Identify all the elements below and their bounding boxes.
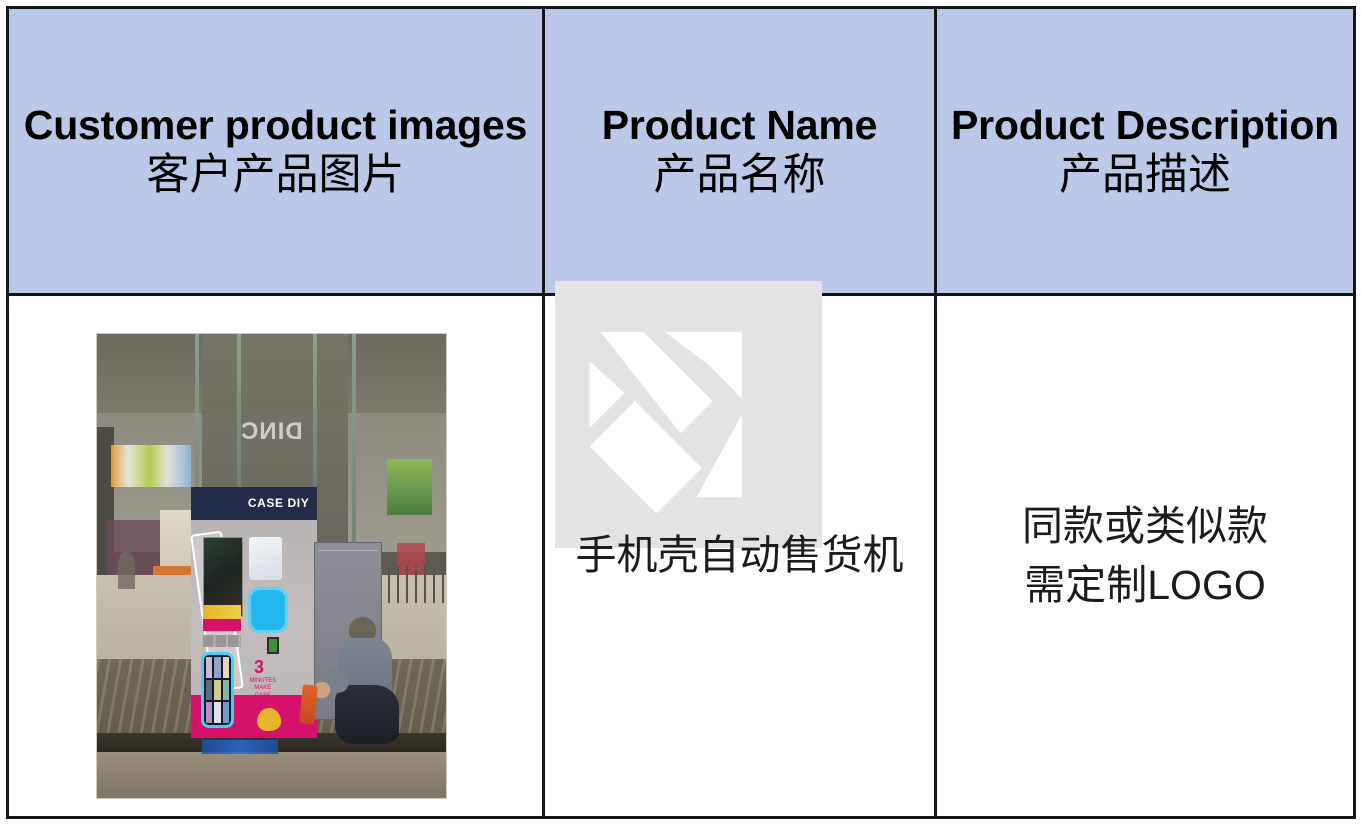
machine-screen-banner-yellow xyxy=(203,605,242,620)
photo-storefront-sign: DINC xyxy=(240,418,303,446)
machine-button-row xyxy=(203,635,242,648)
product-spec-table: Customer product images 客户产品图片 Product N… xyxy=(6,6,1356,819)
product-description-line-1: 同款或类似款 xyxy=(1022,497,1268,556)
handshake-watermark-icon xyxy=(545,281,832,548)
page-root: Customer product images 客户产品图片 Product N… xyxy=(0,0,1361,825)
column-header-cn-label: 客户产品图片 xyxy=(9,150,542,201)
machine-screen-banner-magenta xyxy=(203,619,242,632)
person-legs xyxy=(335,685,399,745)
photo-shop-sign xyxy=(111,445,191,487)
column-header-product-description: Product Description 产品描述 xyxy=(936,8,1355,295)
product-description-text: 同款或类似款 需定制LOGO xyxy=(1008,497,1282,616)
column-header-cn-label: 产品名称 xyxy=(545,150,934,201)
photo-pedestrian xyxy=(118,552,135,589)
case-thumb xyxy=(214,680,220,700)
photo-glass-mullion xyxy=(352,334,356,575)
column-header-en-label: Customer product images xyxy=(9,101,542,149)
cell-product-description: 同款或类似款 需定制LOGO xyxy=(936,295,1355,818)
column-header-customer-product-images: Customer product images 客户产品图片 xyxy=(8,8,544,295)
product-photo: DINC xyxy=(96,333,447,799)
machine-sample-panel xyxy=(249,537,282,580)
machine-case-display-window xyxy=(201,652,234,727)
case-thumb xyxy=(206,657,212,677)
column-header-en-label: Product Description xyxy=(937,101,1353,149)
photo-blue-floor-strip xyxy=(202,740,279,754)
machine-promo-number: 3 xyxy=(254,657,264,678)
photo-crouching-person xyxy=(327,617,404,747)
case-thumb xyxy=(223,702,229,722)
table-body: DINC xyxy=(8,295,1355,818)
case-thumb xyxy=(206,680,212,700)
column-header-cn-label: 产品描述 xyxy=(937,150,1353,201)
case-display-row xyxy=(206,680,229,700)
table-row: DINC xyxy=(8,295,1355,818)
table-header-row: Customer product images 客户产品图片 Product N… xyxy=(8,8,1355,295)
case-display-row xyxy=(206,702,229,722)
case-thumb xyxy=(223,657,229,677)
machine-touchscreen xyxy=(248,587,288,633)
product-description-line-2: 需定制LOGO xyxy=(1022,556,1268,615)
case-display-row xyxy=(206,657,229,677)
photo-shop-sign xyxy=(387,459,432,515)
product-name-text: 手机壳自动售货机 xyxy=(562,526,918,585)
product-name-wrapper: 手机壳自动售货机 xyxy=(545,296,934,816)
machine-top-banner: CASE DIY xyxy=(191,487,317,520)
cell-product-name: 手机壳自动售货机 xyxy=(544,295,936,818)
qr-scanner-icon xyxy=(267,637,280,654)
photo-step-front xyxy=(97,752,446,798)
machine-banner-text: CASE DIY xyxy=(248,496,309,510)
cabinet-seam xyxy=(318,550,378,551)
column-header-en-label: Product Name xyxy=(545,101,934,149)
machine-promo-subtext: MINUTES MAKE CASE xyxy=(249,678,277,701)
case-thumb xyxy=(206,702,212,722)
column-header-product-name: Product Name 产品名称 xyxy=(544,8,936,295)
case-thumb xyxy=(214,657,220,677)
case-thumb xyxy=(223,680,229,700)
photo-vending-machine: CASE DIY xyxy=(191,487,317,738)
cell-customer-product-image: DINC xyxy=(8,295,544,818)
table-header: Customer product images 客户产品图片 Product N… xyxy=(8,8,1355,295)
case-thumb xyxy=(214,702,220,722)
product-description-wrapper: 同款或类似款 需定制LOGO xyxy=(937,296,1353,816)
